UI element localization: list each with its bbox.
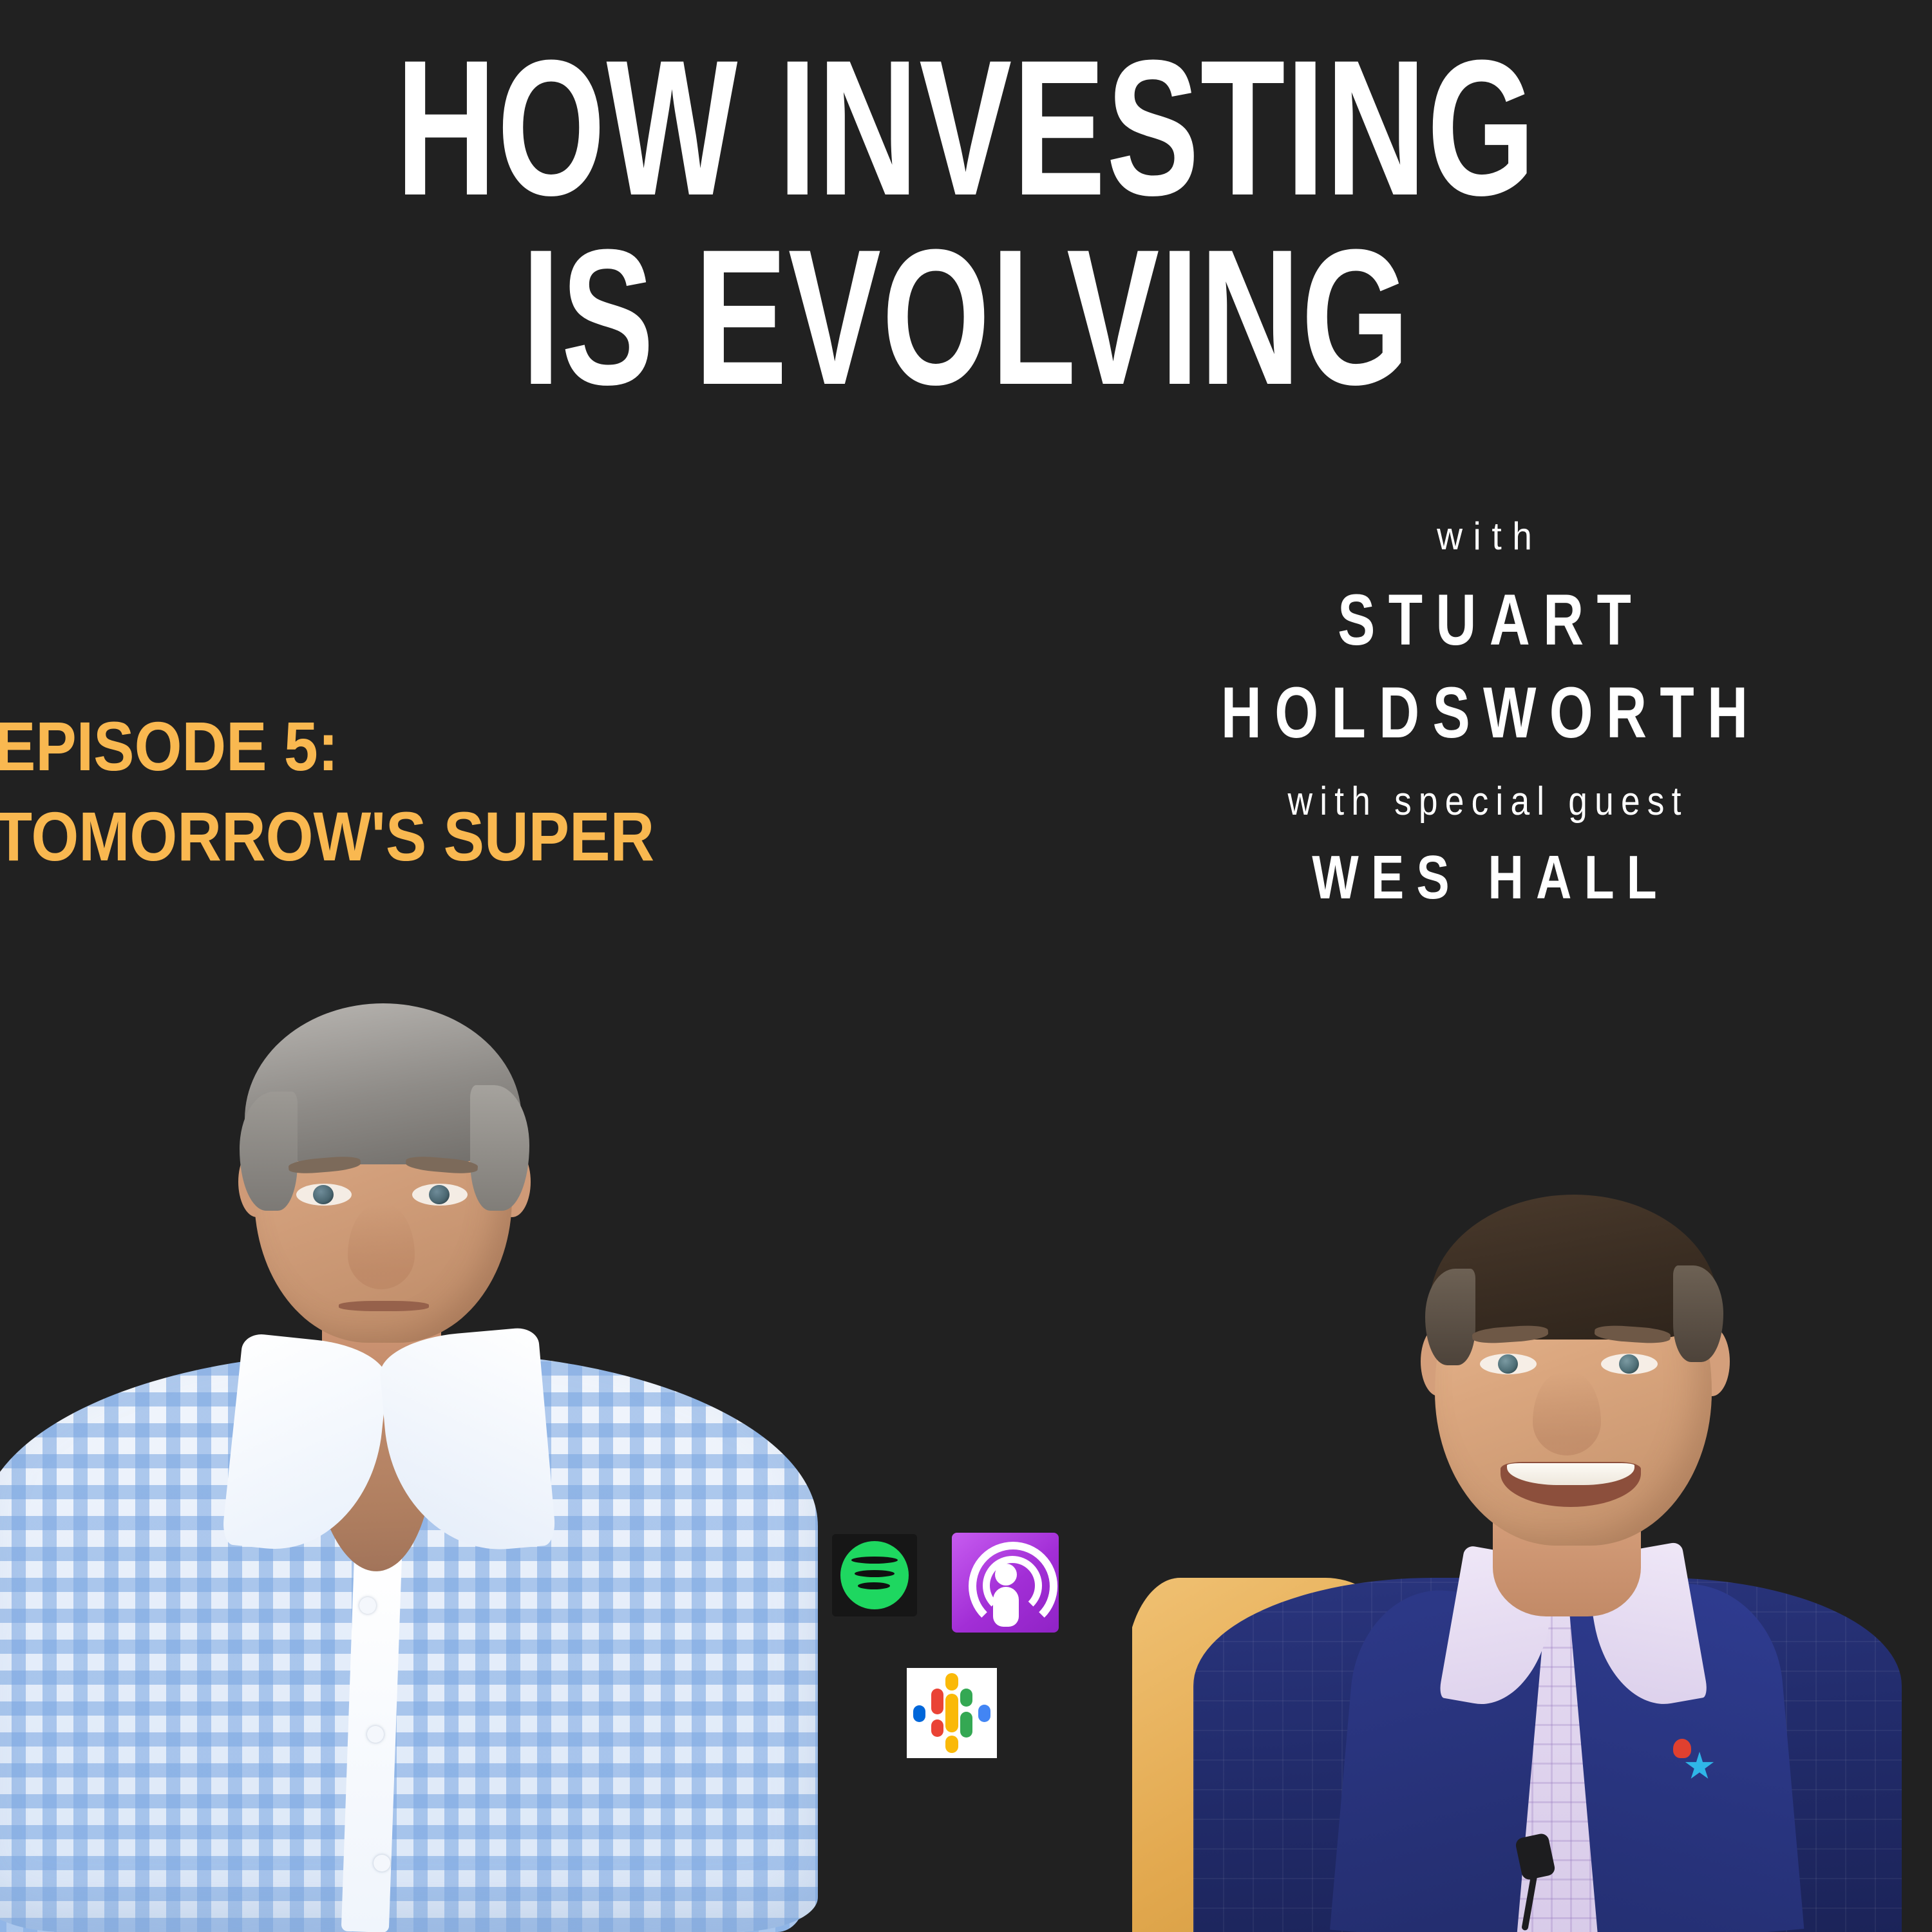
host-nose [348,1204,415,1289]
host-iris-right [429,1185,450,1204]
host-mouth [339,1301,429,1311]
guest-name: WES HALL [1175,846,1794,911]
spotify-wave [851,1557,898,1564]
episode-label: EPISODE 5: TOMORROW'S SUPER [0,712,744,871]
google-podcasts-bar [960,1712,972,1738]
episode-number: EPISODE 5: [0,712,654,781]
credits-block: with STUART HOLDSWORTH with special gues… [1098,515,1871,911]
with-label: with [1129,515,1840,558]
spotify-wave [858,1582,890,1589]
guest-portrait [1132,1056,1932,1932]
google-podcasts-bar [945,1694,958,1732]
guest-nose [1533,1372,1601,1455]
apple-podcasts-mic-body [993,1587,1019,1627]
guest-hair-temple-right [1673,1265,1723,1362]
guest-teeth [1507,1463,1634,1485]
google-podcasts-bar [931,1719,943,1737]
episode-title: TOMORROW'S SUPER [0,802,654,871]
title-line-1: HOW INVESTING [270,39,1662,216]
spotify-glyph [840,1541,909,1609]
guest-eye-right [1601,1354,1658,1374]
podcast-cover-art: HOW INVESTING IS EVOLVING EPISODE 5: TOM… [0,0,1932,1932]
host-first-name: STUART [1183,582,1786,658]
google-podcasts-bar [931,1689,943,1714]
apple-podcasts-mic-head [995,1564,1017,1586]
guest-intro-label: with special guest [1152,780,1817,824]
host-iris-left [313,1185,334,1204]
host-portrait [0,953,863,1932]
apple-podcasts-icon[interactable] [952,1533,1059,1633]
host-shirt-button [367,1726,384,1743]
google-podcasts-bar [960,1689,972,1707]
host-shirt-button [374,1855,390,1871]
host-eye-left [296,1184,352,1206]
google-podcasts-bar [913,1705,925,1722]
guest-iris-left [1498,1354,1518,1374]
host-last-name: HOLDSWORTH [1183,675,1786,751]
title-line-2: IS EVOLVING [270,228,1662,406]
host-shirt-button [359,1597,376,1614]
spotify-wave [855,1570,895,1577]
host-eye-right [412,1184,468,1206]
google-podcasts-bar [945,1673,958,1690]
guest-lapel-pin-red [1673,1739,1691,1758]
guest-iris-right [1619,1354,1639,1374]
guest-eye-left [1480,1354,1537,1374]
page-title: HOW INVESTING IS EVOLVING [0,39,1932,406]
spotify-icon[interactable] [832,1534,917,1616]
google-podcasts-bar [978,1705,990,1722]
host-hair-side-left [240,1092,298,1211]
google-podcasts-icon[interactable] [907,1668,997,1758]
google-podcasts-bar [945,1736,958,1753]
